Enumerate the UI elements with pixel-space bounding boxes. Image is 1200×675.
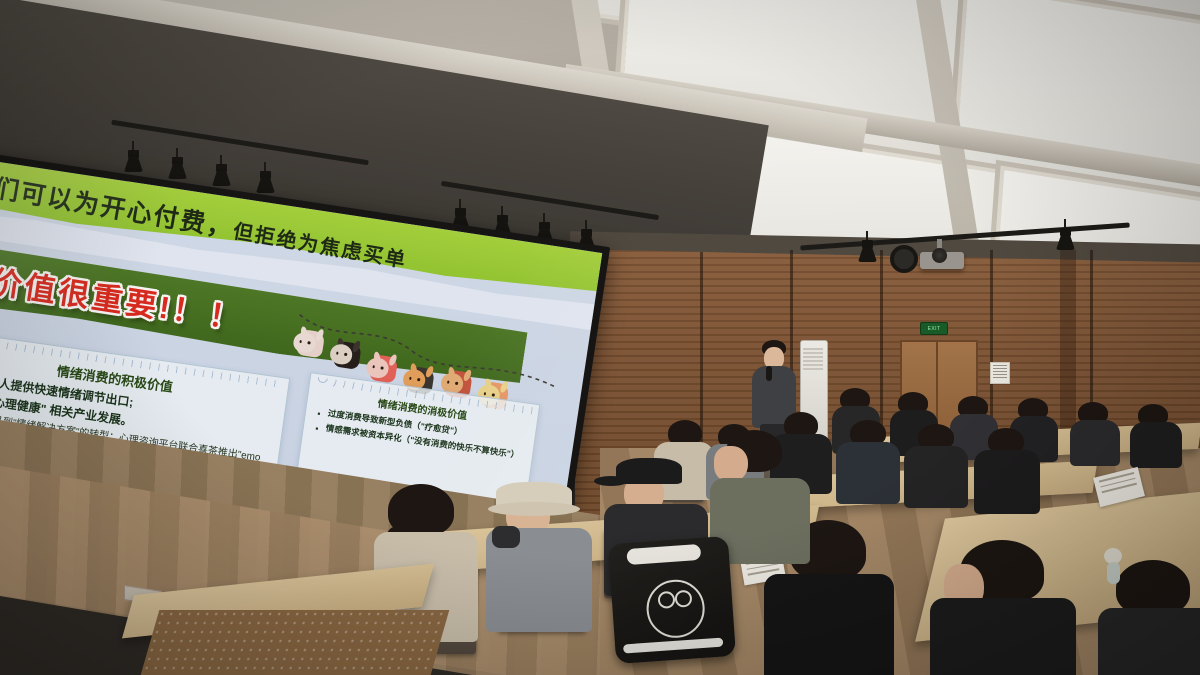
plush-figure-white: [292, 331, 329, 359]
spotlight-icon: [581, 229, 592, 237]
spotlight-icon: [1060, 228, 1071, 236]
backpack-bottom-band: [623, 638, 723, 654]
backpack-black-white: [608, 536, 736, 664]
backpack-logo-icon: [645, 578, 707, 640]
bucket-hat-brim: [488, 502, 580, 516]
spotlight-icon: [172, 157, 183, 165]
wall-pillar: [1060, 250, 1076, 450]
spotlight-icon: [497, 215, 508, 223]
exit-sign-label: EXIT: [928, 326, 941, 332]
plush-charm: [1102, 548, 1124, 592]
handheld-microphone: [766, 366, 772, 381]
spotlight-icon: [128, 150, 139, 158]
projector-lens-icon: [932, 248, 947, 263]
cap-brim: [594, 476, 628, 486]
exit-sign-icon: EXIT: [920, 322, 948, 335]
backpack-strap: [626, 544, 701, 565]
spotlight-icon: [862, 240, 873, 248]
desk-front-left-panel: [141, 610, 450, 675]
plush-figure-black-bunny: [328, 343, 365, 371]
wall-notice-paper: [990, 362, 1010, 384]
ring-light-icon: [890, 245, 918, 273]
lecture-hall-photo: EXIT 我们可以为开心付费，但拒绝为焦虑买单 情绪价值很重要!！！: [0, 0, 1200, 675]
attendee-sleeve: [492, 526, 520, 548]
spotlight-icon: [539, 222, 550, 230]
spotlight-icon: [216, 164, 227, 172]
ac-grill-icon: [803, 348, 823, 370]
spotlight-icon: [455, 208, 466, 216]
spotlight-icon: [260, 171, 271, 179]
